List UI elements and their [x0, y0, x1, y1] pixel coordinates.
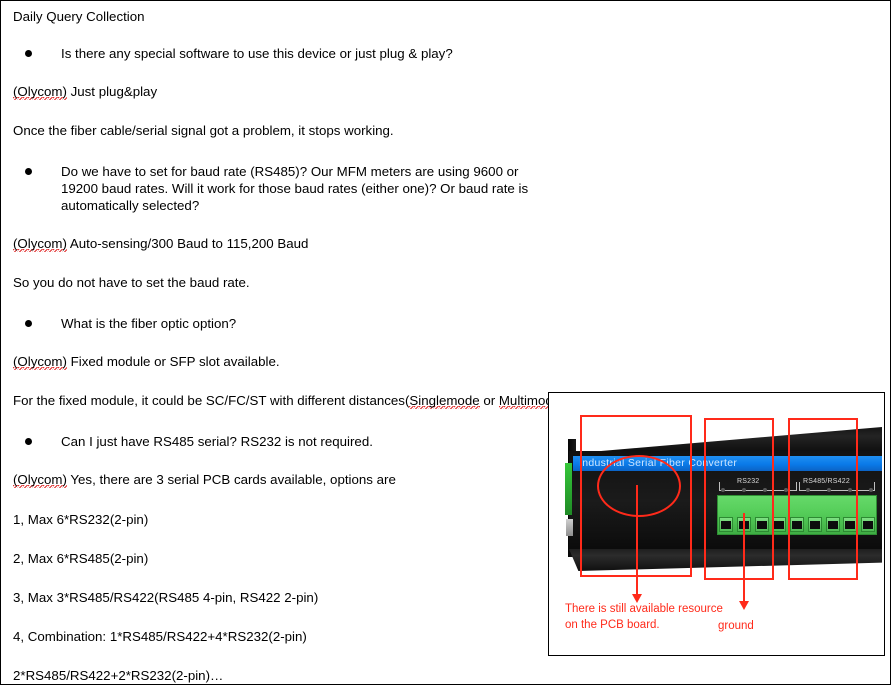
- spellcheck-singlemode: Singlemode: [409, 393, 479, 411]
- spellcheck-olycom-3: (Olycom): [13, 354, 67, 372]
- device-green-connector-edge: [565, 463, 572, 515]
- bullet-item-1-text: Is there any special software to use thi…: [61, 46, 453, 61]
- spellcheck-olycom-4: (Olycom): [13, 472, 67, 490]
- document-page: Daily Query Collection Is there any spec…: [0, 0, 891, 685]
- bullet-dot-icon: [25, 438, 32, 445]
- highlight-box-middle: [704, 418, 774, 580]
- paragraph-3-before: For the fixed module, it could be SC/FC/…: [13, 393, 409, 408]
- option-5: 2*RS485/RS422+2*RS232(2-pin)…: [13, 668, 546, 685]
- device-gray-connector-edge: [566, 519, 573, 536]
- led-icon: [869, 488, 873, 492]
- spellcheck-olycom-1: (Olycom): [13, 84, 67, 102]
- bullet-item-3: What is the fiber optic option?: [13, 315, 546, 332]
- bullet-item-1: Is there any special software to use thi…: [13, 45, 546, 62]
- paragraph-3-mid: or: [480, 393, 499, 408]
- option-2: 2, Max 6*RS485(2-pin): [13, 551, 546, 568]
- answer-2-text: Auto-sensing/300 Baud to 115,200 Baud: [67, 236, 309, 251]
- option-4: 4, Combination: 1*RS485/RS422+4*RS232(2-…: [13, 629, 546, 646]
- arrow-to-ground-note: [743, 513, 745, 602]
- answer-4-text: Yes, there are 3 serial PCB cards availa…: [67, 472, 396, 487]
- highlight-box-right: [788, 418, 858, 580]
- option-1: 1, Max 6*RS232(2-pin): [13, 512, 546, 529]
- answer-4: (Olycom) Yes, there are 3 serial PCB car…: [13, 472, 546, 489]
- terminal-screw: [772, 517, 786, 532]
- product-photo-figure: Industrial Serial Fiber Converter RS232 …: [548, 392, 885, 656]
- annotation-pcb-resource: There is still available resource on the…: [565, 602, 723, 633]
- paragraph-2: So you do not have to set the baud rate.: [13, 275, 546, 292]
- document-text-body: Daily Query Collection Is there any spec…: [1, 1, 546, 685]
- bullet-dot-icon: [25, 50, 32, 57]
- bullet-dot-icon: [25, 320, 32, 327]
- answer-1: (Olycom) Just plug&play: [13, 84, 546, 101]
- annotation-ground: ground: [718, 619, 754, 635]
- bullet-item-4: Can I just have RS485 serial? RS232 is n…: [13, 433, 546, 450]
- bullet-item-3-text: What is the fiber optic option?: [61, 316, 236, 331]
- bullet-item-2-text: Do we have to set for baud rate (RS485)?…: [61, 164, 528, 213]
- answer-2: (Olycom) Auto-sensing/300 Baud to 115,20…: [13, 236, 546, 253]
- answer-3-text: Fixed module or SFP slot available.: [67, 354, 280, 369]
- bullet-item-2: Do we have to set for baud rate (RS485)?…: [13, 163, 546, 214]
- bullet-item-4-text: Can I just have RS485 serial? RS232 is n…: [61, 434, 373, 449]
- option-3: 3, Max 3*RS485/RS422(RS485 4-pin, RS422 …: [13, 590, 546, 607]
- answer-1-text: Just plug&play: [67, 84, 157, 99]
- paragraph-1: Once the fiber cable/serial signal got a…: [13, 123, 546, 140]
- arrow-to-pcb-note: [636, 485, 638, 595]
- product-photo: Industrial Serial Fiber Converter RS232 …: [553, 397, 882, 653]
- page-title: Daily Query Collection: [13, 9, 546, 26]
- spellcheck-olycom-2: (Olycom): [13, 236, 67, 254]
- highlight-ellipse-pcb-space: [597, 455, 681, 517]
- terminal-screw: [861, 517, 875, 532]
- answer-3: (Olycom) Fixed module or SFP slot availa…: [13, 354, 546, 371]
- bullet-dot-icon: [25, 168, 32, 175]
